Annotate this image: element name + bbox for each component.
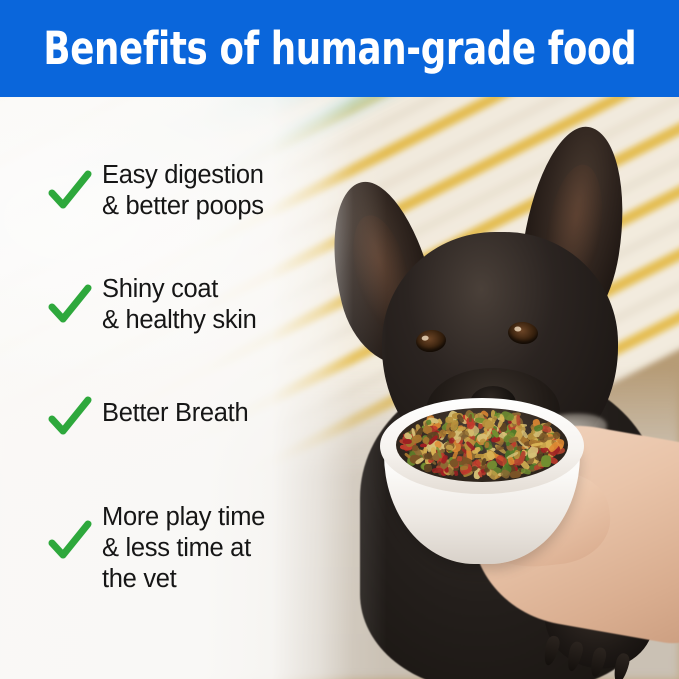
benefit-item: Better Breath (48, 397, 248, 439)
bowl-food (396, 408, 568, 482)
benefit-label: Shiny coat & healthy skin (102, 273, 257, 336)
benefit-item: More play time & less time at the vet (48, 501, 265, 595)
benefit-item: Shiny coat & healthy skin (48, 273, 257, 336)
check-icon (48, 395, 92, 439)
infographic-root: Benefits of human-grade food Easy digest… (0, 0, 679, 679)
food-piece (509, 470, 521, 478)
food-piece (423, 464, 432, 473)
dog-eye-glint-right (514, 326, 521, 332)
food-piece (432, 467, 443, 472)
food-piece (541, 454, 551, 467)
check-icon (48, 283, 92, 327)
dog-claw (611, 652, 631, 679)
check-icon (48, 519, 92, 563)
benefits-list: Easy digestion & better poops Shiny coat… (0, 97, 340, 679)
page-title: Benefits of human-grade food (43, 26, 636, 71)
benefit-label: Easy digestion & better poops (102, 159, 264, 222)
dog-food-bowl (380, 398, 584, 570)
dog-eye-glint-left (421, 335, 428, 341)
benefit-label: More play time & less time at the vet (102, 501, 265, 595)
benefit-item: Easy digestion & better poops (48, 159, 264, 222)
header-banner: Benefits of human-grade food (0, 0, 679, 97)
food-piece (459, 466, 467, 470)
benefit-label: Better Breath (102, 397, 248, 429)
check-icon (48, 169, 92, 213)
